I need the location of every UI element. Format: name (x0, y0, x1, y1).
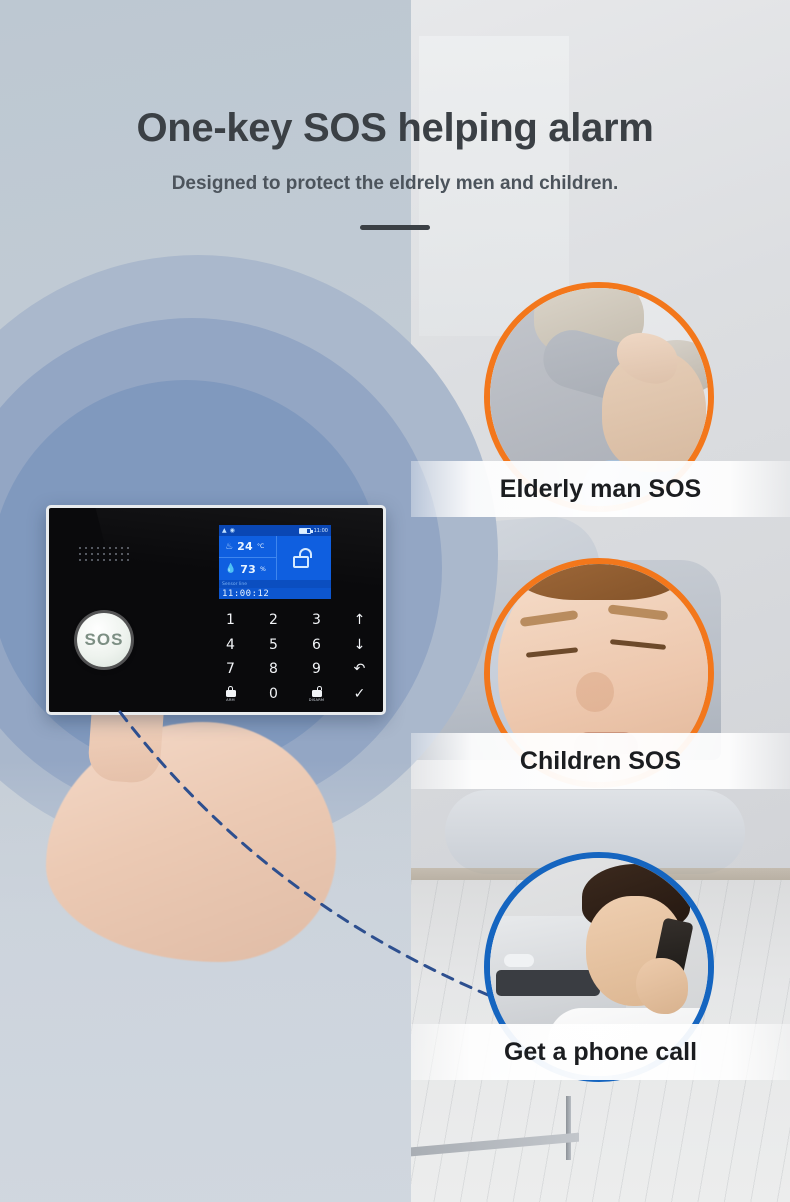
lcd-state-column (277, 536, 331, 580)
key-7[interactable]: 7 (209, 657, 252, 682)
key-disarm-label: DISARM (309, 698, 324, 702)
key-9[interactable]: 9 (295, 657, 338, 682)
key-2[interactable]: 2 (252, 608, 295, 633)
key-5[interactable]: 5 (252, 633, 295, 658)
padlock-closed-icon (226, 686, 236, 697)
key-6[interactable]: 6 (295, 633, 338, 658)
up-arrow-icon: ↑ (354, 613, 366, 627)
checkmark-icon: ✓ (354, 687, 366, 701)
child-hair (514, 558, 684, 600)
sos-button-label: SOS (85, 630, 124, 650)
child-nose (576, 672, 614, 712)
key-1[interactable]: 1 (209, 608, 252, 633)
padlock-open-shackle (317, 686, 322, 690)
tv-stand-leg (566, 1096, 571, 1160)
battery-icon (299, 528, 311, 534)
key-9-label: 9 (312, 662, 321, 676)
key-arm-label: ARM (226, 698, 235, 702)
key-confirm[interactable]: ✓ (338, 682, 381, 707)
sos-button[interactable]: SOS (77, 613, 131, 667)
padlock-shackle (228, 686, 233, 690)
page-subtitle: Designed to protect the eldrely men and … (0, 173, 790, 195)
key-back[interactable]: ↶ (338, 657, 381, 682)
droplet-icon: 💧 (225, 564, 236, 574)
temperature-row: ♨ 24 °C (219, 536, 276, 558)
man-hand (636, 958, 688, 1014)
key-3[interactable]: 3 (295, 608, 338, 633)
key-arm[interactable]: ARM (209, 682, 252, 707)
caption-phone-call-text: Get a phone call (504, 1038, 697, 1067)
lcd-sub-line: Sensor line (219, 580, 331, 588)
car-grille (496, 970, 600, 996)
key-4[interactable]: 4 (209, 633, 252, 658)
keypad[interactable]: 1 2 3 ↑ 4 5 6 ↓ 7 8 9 ↶ ARM 0 (209, 608, 381, 706)
title-divider (360, 225, 430, 230)
key-disarm[interactable]: DISARM (295, 682, 338, 707)
key-down-arrow[interactable]: ↓ (338, 633, 381, 658)
padlock-body (226, 690, 236, 697)
humidity-unit: % (260, 566, 266, 573)
page-title: One-key SOS helping alarm (0, 106, 790, 151)
lcd-body: ♨ 24 °C 💧 73 % (219, 536, 331, 580)
humidity-value: 73 (240, 563, 256, 576)
lcd-clock: 11:00:12 (219, 588, 331, 599)
thermometer-icon: ♨ (225, 542, 233, 552)
unlock-disarm-icon (293, 548, 315, 568)
key-0[interactable]: 0 (252, 682, 295, 707)
key-7-label: 7 (226, 662, 235, 676)
key-up-arrow[interactable]: ↑ (338, 608, 381, 633)
poster-canvas: One-key SOS helping alarm Designed to pr… (0, 0, 790, 1202)
key-8[interactable]: 8 (252, 657, 295, 682)
speaker-grille-icon (77, 545, 133, 565)
down-arrow-icon: ↓ (354, 638, 366, 652)
status-clock: 11:00 (314, 528, 328, 534)
lcd-sensor-column: ♨ 24 °C 💧 73 % (219, 536, 277, 580)
key-1-label: 1 (226, 613, 235, 627)
key-0-label: 0 (269, 687, 278, 701)
key-4-label: 4 (226, 638, 235, 652)
key-6-label: 6 (312, 638, 321, 652)
temperature-value: 24 (237, 540, 253, 553)
back-arrow-icon: ↶ (354, 662, 366, 676)
alarm-control-panel[interactable]: ▲ ◉ 11:00 ♨ 24 °C 💧 73 % (46, 505, 386, 715)
signal-icon: ▲ (222, 528, 227, 534)
caption-children-text: Children SOS (520, 747, 681, 776)
caption-elderly-man: Elderly man SOS (411, 461, 790, 517)
wifi-icon: ◉ (230, 528, 235, 534)
key-3-label: 3 (312, 613, 321, 627)
header: One-key SOS helping alarm Designed to pr… (0, 0, 790, 230)
temperature-unit: °C (257, 543, 264, 550)
key-5-label: 5 (269, 638, 278, 652)
car-headlight (504, 954, 534, 967)
lcd-status-bar: ▲ ◉ 11:00 (219, 525, 331, 536)
lcd-display: ▲ ◉ 11:00 ♨ 24 °C 💧 73 % (219, 525, 331, 599)
caption-children: Children SOS (411, 733, 790, 789)
caption-phone-call: Get a phone call (411, 1024, 790, 1080)
caption-elderly-man-text: Elderly man SOS (500, 475, 701, 504)
padlock-open-icon (312, 686, 322, 697)
lock-body (293, 556, 309, 568)
padlock-open-body (312, 690, 322, 697)
key-8-label: 8 (269, 662, 278, 676)
humidity-row: 💧 73 % (219, 558, 276, 580)
key-2-label: 2 (269, 613, 278, 627)
